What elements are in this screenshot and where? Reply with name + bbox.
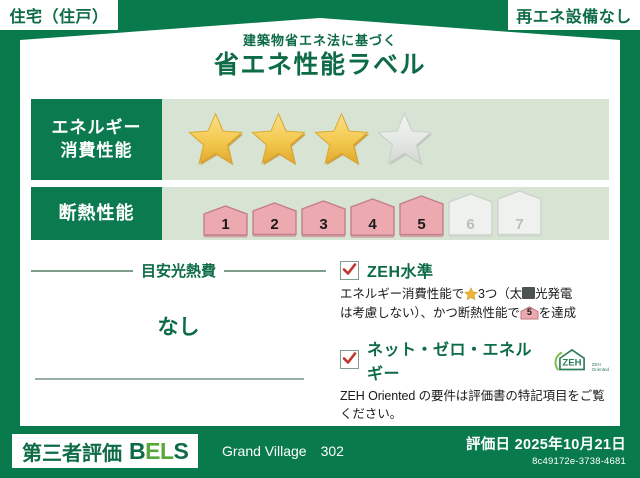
insulation-level-chip-value: 5 xyxy=(520,306,539,320)
building-type-tag-label: 住宅（住戸） xyxy=(9,3,108,27)
insulation-level-1: 1 xyxy=(202,204,249,238)
insulation-level-value: 3 xyxy=(300,216,347,233)
energy-cost-heading: 目安光熱費 xyxy=(31,260,326,281)
insulation-level-7: 7 xyxy=(496,189,543,237)
star-filled-icon xyxy=(250,112,307,167)
energy-consumption-rating xyxy=(162,99,609,180)
insulation-level-5: 5 xyxy=(398,194,445,238)
small-star-icon xyxy=(464,287,478,301)
insulation-level-value: 5 xyxy=(398,216,445,233)
insulation-level-3: 3 xyxy=(300,199,347,238)
label-footer: 第三者評価 BELS Grand Village302 評価日 2025年10月… xyxy=(0,426,640,478)
insulation-level-chip: 5 xyxy=(520,306,539,320)
energy-consumption-label-line2: 消費性能 xyxy=(61,141,133,160)
energy-performance-label: 住宅（住戸） 再エネ設備なし 建築物省エネ法に基づく 省エネ性能ラベル エネルギ… xyxy=(0,0,640,478)
star-filled-icon xyxy=(187,112,244,167)
page-title: 省エネ性能ラベル xyxy=(0,52,640,80)
bels-letter-e: E xyxy=(145,438,160,464)
energy-consumption-label: エネルギー 消費性能 xyxy=(31,99,162,180)
zeh-logo: ZEH ZEH Oriented xyxy=(550,347,609,372)
energy-cost-rule-right xyxy=(224,270,326,272)
insulation-level-value: 6 xyxy=(447,216,494,233)
star-filled-icon xyxy=(313,112,370,167)
insulation-level-scale: 1234567 xyxy=(202,189,543,237)
bels-badge: 第三者評価 BELS xyxy=(12,434,198,468)
bels-letter-l: L xyxy=(160,438,174,464)
renewable-equipment-tag-label: 再エネ設備なし xyxy=(516,3,632,27)
star-empty-icon xyxy=(376,112,433,167)
label-subtitle: 建築物省エネ法に基づく xyxy=(0,34,640,48)
zeh-desc-part1: エネルギー消費性能で xyxy=(340,287,464,301)
insulation-level-6: 6 xyxy=(447,192,494,238)
zeh-house-logo-icon: ZEH xyxy=(552,347,592,372)
zeh-standard-description: エネルギー消費性能で3つ（太光発電は考慮しない）、かつ断熱性能で5を達成 xyxy=(340,285,609,323)
redacted-character xyxy=(522,287,535,299)
insulation-performance-row: 断熱性能 1234567 xyxy=(31,187,609,240)
zeh-standard-heading: ZEH水準 xyxy=(340,258,609,282)
insulation-level-value: 2 xyxy=(251,216,298,233)
net-zero-description: ZEH Oriented の要件は評価書の特記項目をご覧ください。 xyxy=(340,387,609,425)
insulation-performance-label: 断熱性能 xyxy=(31,187,162,240)
property-info: Grand Village302 xyxy=(222,443,344,459)
bels-letter-b: B xyxy=(129,438,145,464)
net-zero-heading: ネット・ゼロ・エネルギー ZEH ZEH Oriented xyxy=(340,336,609,384)
insulation-level-value: 7 xyxy=(496,216,543,233)
evaluation-id: 8c49172e-3738-4681 xyxy=(466,456,626,467)
energy-consumption-row: エネルギー 消費性能 xyxy=(31,99,609,180)
third-party-eval-label: 第三者評価 xyxy=(22,437,122,466)
renewable-equipment-tag: 再エネ設備なし xyxy=(508,0,640,30)
insulation-level-4: 4 xyxy=(349,197,396,238)
net-zero-title: ネット・ゼロ・エネルギー xyxy=(367,336,544,384)
insulation-performance-rating: 1234567 xyxy=(162,187,609,240)
net-zero-block: ネット・ゼロ・エネルギー ZEH ZEH Oriented ZEH Ori xyxy=(340,336,609,425)
evaluation-date: 評価日 2025年10月21日 xyxy=(466,433,626,454)
zeh-desc-part4: は考慮しない）、かつ断熱性能で xyxy=(340,306,520,320)
room-number: 302 xyxy=(321,443,344,459)
evaluation-info: 評価日 2025年10月21日 8c49172e-3738-4681 xyxy=(466,433,626,467)
property-name: Grand Village xyxy=(222,443,307,459)
zeh-logo-caption: ZEH Oriented xyxy=(592,362,609,372)
zeh-desc-part5: を達成 xyxy=(539,306,576,320)
performance-rows: エネルギー 消費性能 断熱性能 1234567 xyxy=(31,99,609,247)
star-rating xyxy=(187,112,433,167)
energy-consumption-label-line1: エネルギー xyxy=(52,118,142,137)
checkbox-checked-icon-2 xyxy=(340,350,359,369)
label-title-block: 建築物省エネ法に基づく 省エネ性能ラベル xyxy=(0,34,640,80)
svg-text:ZEH: ZEH xyxy=(562,357,581,368)
bels-letter-s: S xyxy=(174,438,189,464)
insulation-level-2: 2 xyxy=(251,201,298,237)
zeh-desc-part2: 3つ（太 xyxy=(478,287,522,301)
zeh-desc-part3: 光発電 xyxy=(535,287,572,301)
zeh-standard-title: ZEH水準 xyxy=(367,258,434,282)
checkbox-checked-icon xyxy=(340,261,359,280)
zeh-logo-caption-line2: Oriented xyxy=(592,367,609,372)
energy-cost-value: なし xyxy=(31,311,326,341)
bels-logo: BELS xyxy=(129,438,188,465)
insulation-level-value: 1 xyxy=(202,216,249,233)
insulation-level-value: 4 xyxy=(349,216,396,233)
energy-cost-rule-left xyxy=(31,270,133,272)
building-type-tag: 住宅（住戸） xyxy=(0,0,118,30)
energy-cost-heading-label: 目安光熱費 xyxy=(141,260,216,281)
energy-cost-divider xyxy=(35,378,304,380)
